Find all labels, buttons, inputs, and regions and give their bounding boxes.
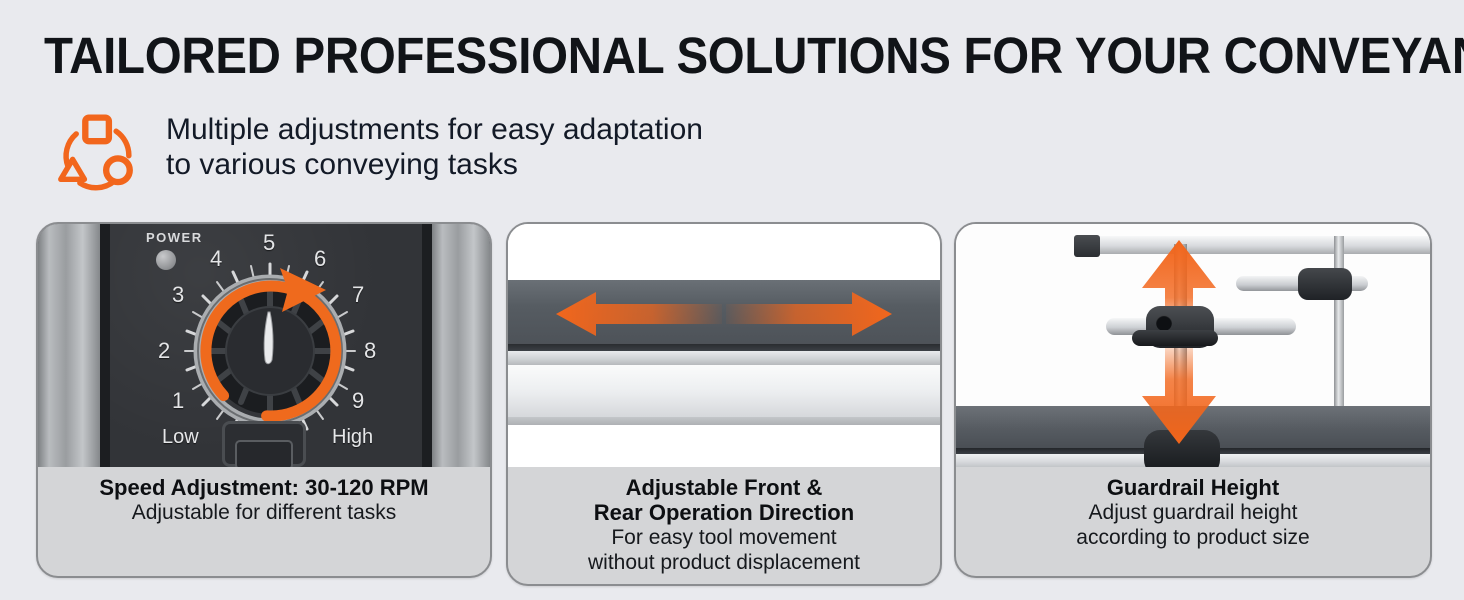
panel-rail-right bbox=[432, 224, 490, 467]
dial-number-9: 9 bbox=[352, 388, 364, 414]
belt-edge bbox=[508, 344, 940, 351]
dial-high-label: High bbox=[332, 426, 373, 449]
caption-subtitle: For easy tool movement without product d… bbox=[518, 525, 930, 575]
conveyor-belt-image bbox=[508, 224, 940, 467]
feature-card-speed-adjustment[interactable]: POWER bbox=[36, 222, 492, 578]
caption-title: Adjustable Front & Rear Operation Direct… bbox=[518, 475, 930, 525]
top-rail bbox=[1084, 236, 1430, 254]
cycle-shapes-icon bbox=[52, 114, 144, 192]
belt-body bbox=[508, 365, 940, 425]
dial-number-7: 7 bbox=[352, 282, 364, 308]
guardrail-stage bbox=[956, 224, 1430, 467]
dial-number-6: 6 bbox=[314, 246, 326, 272]
feature-card-guardrail-height[interactable]: Guardrail Height Adjust guardrail height… bbox=[954, 222, 1432, 578]
arrow-left-icon bbox=[556, 292, 722, 336]
run-button[interactable] bbox=[222, 421, 306, 467]
caption-subtitle: Adjustable for different tasks bbox=[48, 500, 480, 525]
panel-rail-left bbox=[38, 224, 100, 467]
panel-seam-left bbox=[100, 224, 110, 467]
guardrail-image bbox=[956, 224, 1430, 467]
arrow-down-icon bbox=[1142, 336, 1216, 444]
card-caption: Guardrail Height Adjust guardrail height… bbox=[956, 467, 1430, 562]
caption-title: Speed Adjustment: 30-120 RPM bbox=[48, 475, 480, 500]
arrow-right-icon bbox=[726, 292, 892, 336]
feature-card-operation-direction[interactable]: Adjustable Front & Rear Operation Direct… bbox=[506, 222, 942, 586]
dial-number-3: 3 bbox=[172, 282, 184, 308]
infographic-page: TAILORED PROFESSIONAL SOLUTIONS FOR YOUR… bbox=[0, 0, 1464, 600]
page-subtitle: Multiple adjustments for easy adaptation… bbox=[166, 108, 703, 182]
caption-subtitle: Adjust guardrail height according to pro… bbox=[966, 500, 1420, 550]
dial-number-4: 4 bbox=[210, 246, 222, 272]
guardrail-clamp-lever[interactable] bbox=[1132, 330, 1218, 346]
panel-seam-right bbox=[422, 224, 432, 467]
page-title: TAILORED PROFESSIONAL SOLUTIONS FOR YOUR… bbox=[44, 28, 1337, 84]
belt-frame bbox=[508, 351, 940, 365]
dial-number-8: 8 bbox=[364, 338, 376, 364]
card-caption: Speed Adjustment: 30-120 RPM Adjustable … bbox=[38, 467, 490, 537]
caption-title: Guardrail Height bbox=[966, 475, 1420, 500]
dial-number-2: 2 bbox=[158, 338, 170, 364]
guardrail-post-right bbox=[1334, 236, 1344, 432]
card-caption: Adjustable Front & Rear Operation Direct… bbox=[508, 467, 940, 586]
top-rail-end-cap bbox=[1074, 235, 1100, 257]
dial-number-5: 5 bbox=[263, 230, 275, 256]
speed-panel-image: POWER bbox=[38, 224, 490, 467]
belt-stage bbox=[508, 224, 940, 467]
dial-low-label: Low bbox=[162, 426, 199, 449]
subtitle-row: Multiple adjustments for easy adaptation… bbox=[52, 108, 703, 192]
dial-number-1: 1 bbox=[172, 388, 184, 414]
controller-panel: POWER bbox=[38, 224, 490, 467]
guardrail-clamp-right[interactable] bbox=[1298, 268, 1352, 300]
